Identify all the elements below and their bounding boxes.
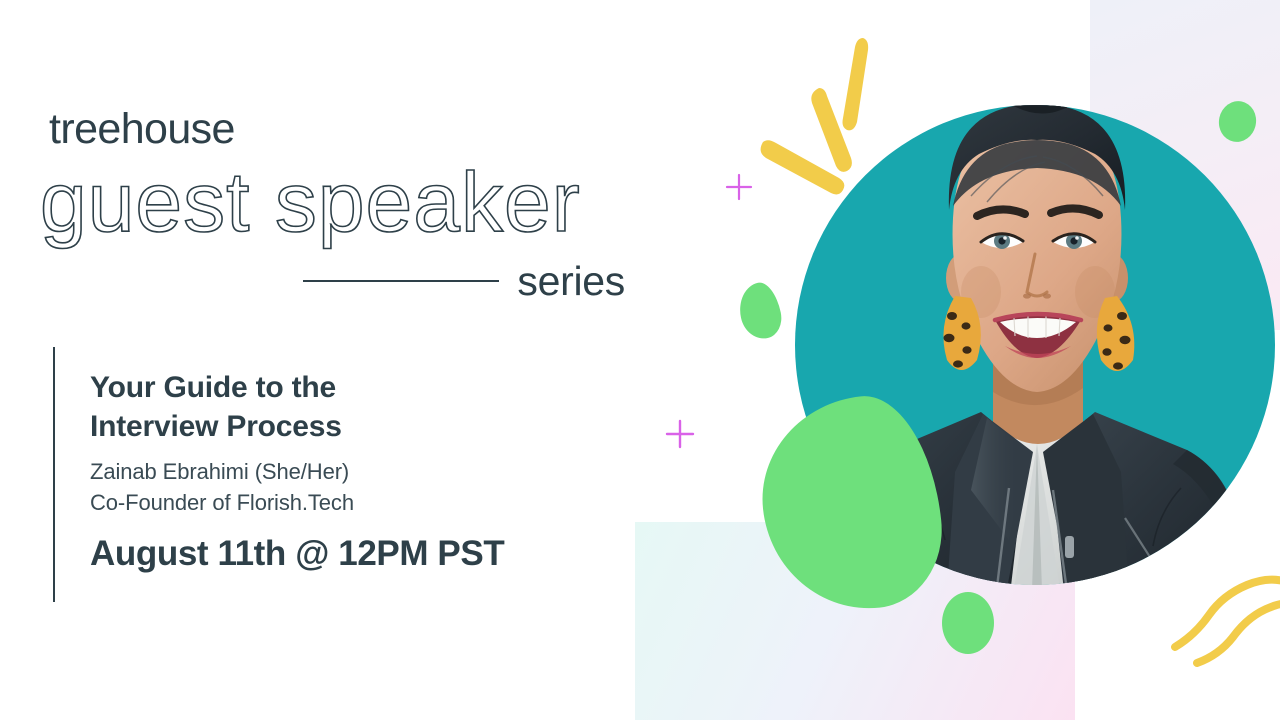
- green-dot: [942, 592, 994, 654]
- speaker-name: Zainab Ebrahimi (She/Her): [90, 456, 630, 487]
- event-info: Your Guide to the Interview Process Zain…: [90, 368, 630, 571]
- magenta-plus-icon: [724, 172, 754, 202]
- slide-canvas: treehouse guest speaker series Your Guid…: [0, 0, 1280, 720]
- series-divider: [303, 280, 499, 282]
- talk-title: Your Guide to the Interview Process: [90, 368, 630, 446]
- event-datetime: August 11th @ 12PM PST: [90, 536, 630, 571]
- speaker-role: Co-Founder of Florish.Tech: [90, 487, 630, 518]
- page-title: guest speaker: [40, 160, 581, 244]
- yellow-squiggle-lines: [1165, 575, 1280, 680]
- brand-wordmark: treehouse: [49, 108, 235, 151]
- green-blob: [735, 279, 786, 342]
- series-row: series: [303, 255, 625, 307]
- series-label: series: [517, 261, 625, 302]
- magenta-plus-icon: [664, 418, 696, 450]
- yellow-spark-strokes: [735, 30, 895, 200]
- vertical-divider: [53, 347, 55, 602]
